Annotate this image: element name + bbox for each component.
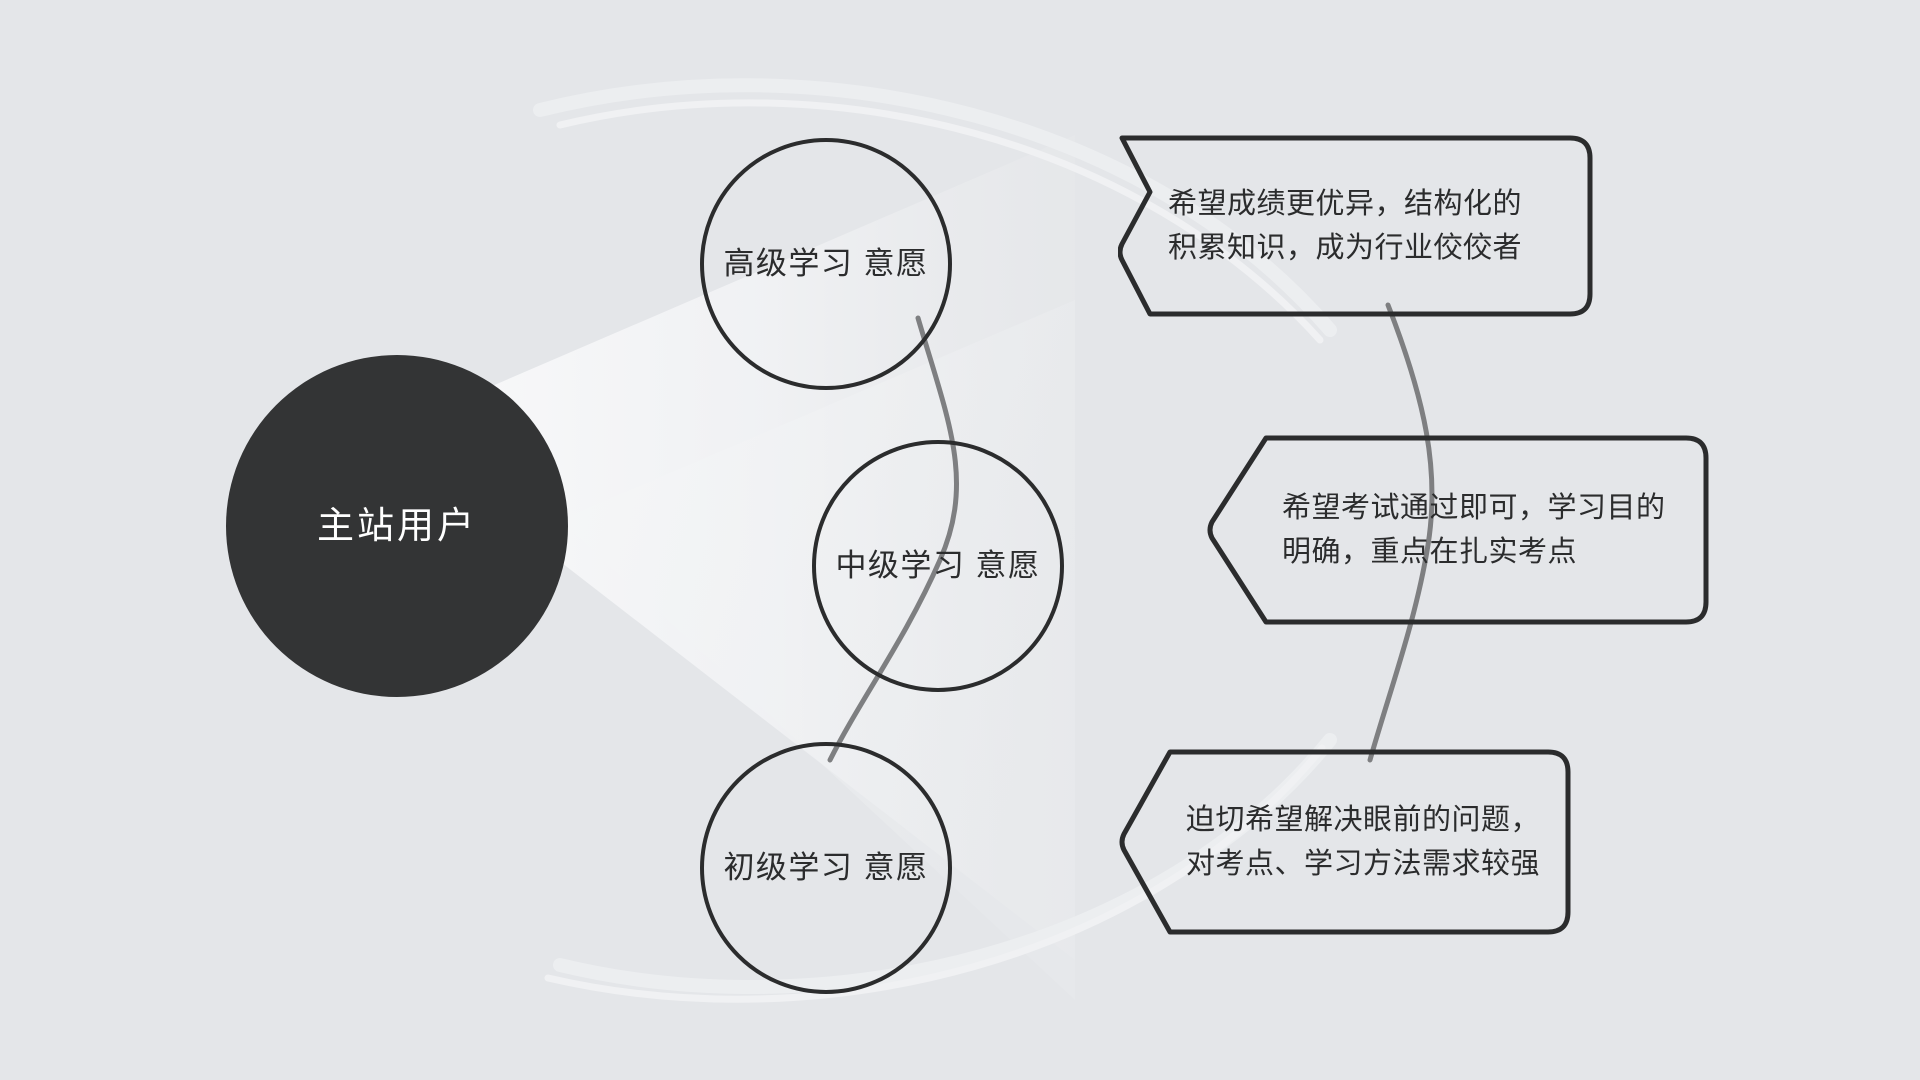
node-circle-beginner[interactable]: 初级学习 意愿 [700, 742, 952, 994]
callout-intermediate[interactable]: 希望考试通过即可，学习目的 明确，重点在扎实考点 [1206, 434, 1710, 626]
hub-label: 主站用户 [317, 504, 477, 548]
hub-node-main-user[interactable]: 主站用户 [226, 355, 568, 697]
callout-intermediate-text: 希望考试通过即可，学习目的 明确，重点在扎实考点 [1282, 486, 1666, 574]
node-circle-intermediate[interactable]: 中级学习 意愿 [812, 440, 1064, 692]
node-label-intermediate: 中级学习 意愿 [835, 545, 1040, 588]
node-label-beginner: 初级学习 意愿 [723, 847, 928, 890]
callout-beginner-text: 迫切希望解决眼前的问题， 对考点、学习方法需求较强 [1186, 798, 1540, 886]
node-label-advanced: 高级学习 意愿 [723, 243, 928, 286]
diagram-canvas: 主站用户 高级学习 意愿 中级学习 意愿 初级学习 意愿 希望成绩更优异，结构化… [0, 0, 1920, 1080]
callout-advanced-text: 希望成绩更优异，结构化的 积累知识，成为行业佼佼者 [1168, 182, 1522, 270]
node-circle-advanced[interactable]: 高级学习 意愿 [700, 138, 952, 390]
callout-advanced[interactable]: 希望成绩更优异，结构化的 积累知识，成为行业佼佼者 [1118, 134, 1594, 318]
callout-beginner[interactable]: 迫切希望解决眼前的问题， 对考点、学习方法需求较强 [1118, 748, 1572, 936]
